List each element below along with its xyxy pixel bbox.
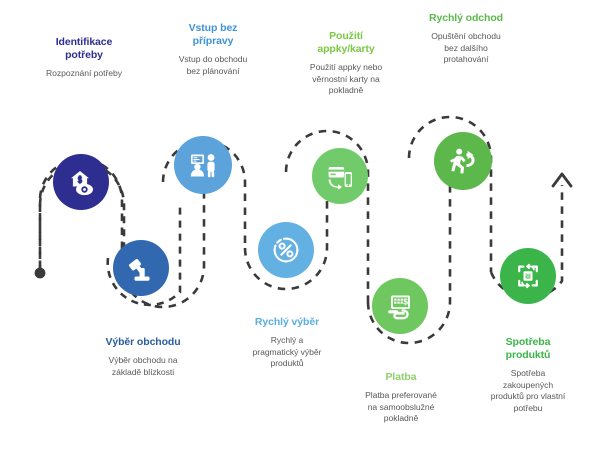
- step-desc-line1: Použití appky nebo: [310, 62, 382, 72]
- step-title-line1: Spotřeba: [506, 336, 551, 348]
- gavel-icon: [125, 252, 157, 284]
- step-title-line2: appky/karty: [317, 43, 374, 55]
- running-exit-icon: [446, 144, 480, 178]
- step-desc-line2: bez plánování: [187, 66, 240, 76]
- svg-text:$: $: [403, 296, 408, 306]
- path-end-arrow-icon: [553, 174, 571, 186]
- step-desc-line1: Vstup do obchodu: [179, 54, 247, 64]
- step-desc-line2: zakoupených: [503, 380, 553, 390]
- step-desc-line2: na samoobslužné: [368, 402, 435, 412]
- step-title-line1: Rychlý výběr: [255, 316, 319, 328]
- pos-terminal-icon: $: [384, 290, 416, 322]
- step-desc-line2: pragmatický výběr: [253, 347, 322, 357]
- step-desc-line1: Rychlý a: [271, 335, 304, 345]
- step-node-vyber-obchodu[interactable]: [113, 240, 169, 296]
- journey-diagram: $: [0, 0, 602, 457]
- step-node-vstup-bez-pripravy[interactable]: [174, 136, 232, 194]
- discount-percent-icon: [270, 234, 302, 266]
- step-title-line2: potřeby: [65, 49, 103, 61]
- step-desc-line3: pokladně: [329, 85, 363, 95]
- step-node-platba[interactable]: $: [372, 278, 428, 334]
- step-title-line2: přípravy: [193, 35, 234, 47]
- step-desc-line3: produktů pro vlastní: [491, 391, 565, 401]
- step-desc-line2: bez dalšího: [444, 43, 487, 53]
- step-node-identifikace-potreby[interactable]: $: [53, 154, 109, 210]
- step-label-vstup-bez-pripravy: Vstup bez přípravy Vstup do obchodu bez …: [140, 22, 286, 77]
- step-title: Identifikace potřeby: [10, 36, 158, 62]
- step-node-pouziti-appky-karty[interactable]: [312, 148, 368, 204]
- step-desc-line1: Platba preferované: [365, 390, 437, 400]
- card-mobile-icon: [324, 160, 356, 192]
- step-title: Výběr obchodu: [68, 336, 218, 349]
- step-desc: Opuštění obchodu bez dalšího protahování: [392, 31, 540, 66]
- step-title-line2: produktů: [506, 349, 551, 361]
- step-title: Rychlý výběr: [213, 316, 361, 329]
- step-label-spotreba-produktu: Spotřeba produktů Spotřeba zakoupených p…: [454, 336, 602, 414]
- step-label-rychly-odchod: Rychlý odchod Opuštění obchodu bez další…: [392, 12, 540, 66]
- path-start-dot: [35, 268, 46, 279]
- step-title-line1: Rychlý odchod: [429, 12, 503, 24]
- step-label-rychly-vyber: Rychlý výběr Rychlý a pragmatický výběr …: [213, 316, 361, 370]
- step-desc: Vstup do obchodu bez plánování: [140, 54, 286, 77]
- step-title-line1: Výběr obchodu: [105, 336, 180, 348]
- step-desc: Použití appky nebo věrnostní karty na po…: [272, 62, 420, 97]
- step-desc-line3: produktů: [270, 358, 303, 368]
- recycle-product-icon: ₫: [512, 260, 544, 292]
- step-title: Vstup bez přípravy: [140, 22, 286, 48]
- step-title: Rychlý odchod: [392, 12, 540, 25]
- step-desc: Rychlý a pragmatický výběr produktů: [213, 335, 361, 370]
- store-counter-person-icon: [186, 148, 220, 182]
- step-desc: Výběr obchodu na základě blízkosti: [68, 355, 218, 378]
- house-dollar-eye-icon: $: [64, 165, 98, 199]
- step-label-vyber-obchodu: Výběr obchodu Výběr obchodu na základě b…: [68, 336, 218, 378]
- step-desc: Rozpoznání potřeby: [10, 68, 158, 80]
- step-desc-line1: Výběr obchodu na: [109, 355, 178, 365]
- step-desc-line1: Rozpoznání potřeby: [46, 68, 122, 78]
- step-title: Spotřeba produktů: [454, 336, 602, 362]
- step-desc: Spotřeba zakoupených produktů pro vlastn…: [454, 368, 602, 414]
- step-desc-line3: pokladně: [384, 413, 418, 423]
- step-title-line1: Použití: [329, 30, 363, 42]
- step-desc-line4: potřebu: [514, 403, 543, 413]
- step-node-rychly-vyber[interactable]: [258, 222, 314, 278]
- step-title-line1: Identifikace: [56, 36, 113, 48]
- step-node-spotreba-produktu[interactable]: ₫: [500, 248, 556, 304]
- step-title-line1: Platba: [386, 371, 417, 383]
- step-desc-line2: základě blízkosti: [112, 367, 174, 377]
- step-desc-line1: Spotřeba: [511, 368, 545, 378]
- svg-text:₫: ₫: [526, 271, 530, 281]
- step-label-identifikace-potreby: Identifikace potřeby Rozpoznání potřeby: [10, 36, 158, 80]
- step-node-rychly-odchod[interactable]: [434, 132, 492, 190]
- step-desc-line2: věrnostní karty na: [312, 74, 379, 84]
- step-desc-line3: protahování: [444, 54, 489, 64]
- step-desc-line1: Opuštění obchodu: [431, 31, 500, 41]
- step-title-line1: Vstup bez: [189, 22, 238, 34]
